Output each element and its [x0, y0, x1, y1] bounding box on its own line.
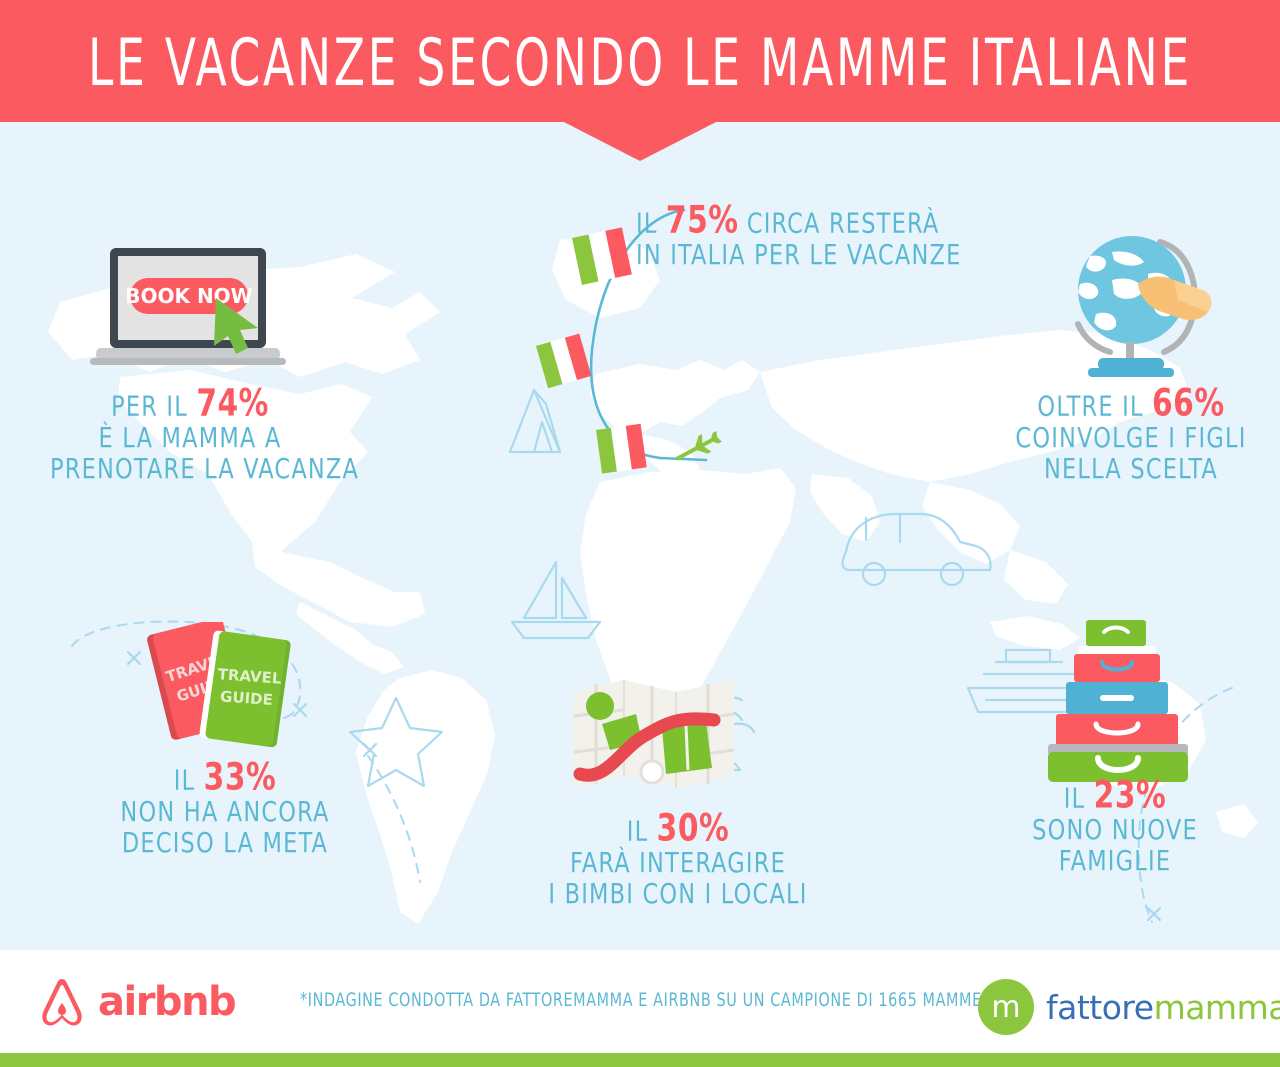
stat-line-2: IN ITALIA PER LE VACANZE	[636, 238, 962, 272]
fattoremamma-word-fattore: fattore	[1046, 988, 1154, 1027]
stat-line-2: FARÀ INTERAGIRE	[548, 846, 808, 880]
airbnb-belo-icon	[36, 975, 88, 1029]
stat-nuove-famiglie: IL 23% SONO NUOVE FAMIGLIE	[1000, 775, 1230, 876]
stat-prefix: IL	[636, 207, 658, 239]
stat-prefix: IL	[174, 764, 196, 796]
stat-non-deciso-meta: IL 33% NON HA ANCORA DECISO LA META	[100, 757, 350, 858]
stat-line-2: COINVOLGE I FIGLI	[1000, 421, 1262, 455]
stat-line-2: È LA MAMMA A	[50, 421, 330, 455]
fattoremamma-word-mamma: mamma	[1154, 988, 1280, 1027]
infographic-page: Le vacanze secondo le mamme italiane .la…	[0, 0, 1280, 1067]
stat-line-2: NON HA ANCORA	[100, 795, 350, 829]
folded-map-icon	[566, 670, 742, 800]
stat-line-3: PRENOTARE LA VACANZA	[50, 452, 330, 486]
stat-line-1: IL 30%	[548, 806, 808, 851]
book-now-label: BOOK NOW	[125, 284, 253, 308]
stat-suffix: CIRCA RESTERÀ	[747, 207, 940, 239]
stat-mamma-prenota: PER IL 74% È LA MAMMA A PRENOTARE LA VAC…	[50, 383, 330, 484]
travel-guide-books-icon: TRAVEL GUIDE TRAVEL GUIDE	[132, 622, 312, 758]
stat-line-3: NELLA SCELTA	[1000, 452, 1262, 486]
stat-line-2: SONO NUOVE	[1000, 813, 1230, 847]
stat-percent: 33%	[204, 755, 277, 799]
stat-line-1: IL 33%	[100, 755, 350, 800]
stat-line-1: PER IL 74%	[50, 381, 330, 426]
laptop-book-now-icon: BOOK NOW	[88, 240, 288, 370]
stat-line-1: IL 23%	[1000, 773, 1230, 818]
fattoremamma-mark-icon: m	[978, 979, 1034, 1035]
stacked-luggage-icon	[1044, 616, 1192, 756]
footer-green-bar	[0, 1053, 1280, 1067]
stat-restera-in-italia: IL 75% CIRCA RESTERÀ IN ITALIA PER LE VA…	[636, 200, 962, 271]
fattoremamma-wordmark: fattoremamma	[1046, 988, 1280, 1027]
header-banner: Le vacanze secondo le mamme italiane	[0, 0, 1280, 122]
fattoremamma-logo[interactable]: m fattoremamma	[978, 979, 1280, 1035]
airbnb-logo[interactable]: airbnb	[36, 975, 235, 1029]
stat-percent: 74%	[196, 381, 269, 425]
stat-percent: 75%	[666, 198, 739, 242]
stat-line-1: OLTRE IL 66%	[1000, 381, 1262, 426]
italian-flag-icon	[536, 334, 591, 389]
book-label-guide: GUIDE	[220, 687, 274, 709]
stat-prefix: IL	[1064, 782, 1086, 814]
stat-line-3: FAMIGLIE	[1000, 844, 1230, 878]
stat-prefix: OLTRE IL	[1037, 390, 1143, 422]
stat-percent: 66%	[1152, 381, 1225, 425]
stat-line-3: I BIMBI CON I LOCALI	[548, 877, 808, 911]
stat-percent: 23%	[1094, 773, 1167, 817]
stat-interagire-locali: IL 30% FARÀ INTERAGIRE I BIMBI CON I LOC…	[548, 808, 808, 909]
globe-hand-icon	[1052, 228, 1228, 378]
page-title: Le vacanze secondo le mamme italiane	[51, 25, 1229, 101]
tent-doodle	[510, 390, 560, 452]
stat-line-1: IL 75% CIRCA RESTERÀ	[636, 198, 962, 243]
stat-coinvolge-figli: OLTRE IL 66% COINVOLGE I FIGLI NELLA SCE…	[1000, 383, 1262, 484]
stat-prefix: PER IL	[111, 390, 188, 422]
header-notch-triangle	[562, 121, 718, 161]
stat-percent: 30%	[657, 806, 730, 850]
italian-flag-icon	[596, 424, 647, 474]
stat-line-3: DECISO LA META	[100, 826, 350, 860]
footnote-text: *Indagine condotta da fattoremamma e air…	[300, 989, 980, 1011]
airbnb-wordmark: airbnb	[98, 979, 235, 1025]
stat-prefix: IL	[627, 815, 649, 847]
